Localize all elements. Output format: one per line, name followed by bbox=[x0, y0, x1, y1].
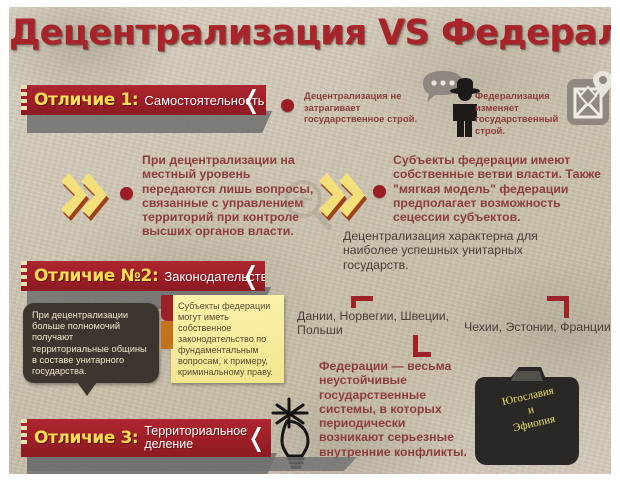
page-title: Децентрализация VS Федерализация bbox=[9, 13, 611, 53]
federal-top-text: Федерализация изменяет государственный с… bbox=[475, 91, 561, 137]
countries-unitary-text: Дании, Норвегии, Швеции, Польши bbox=[297, 309, 487, 338]
sticky-tab-orange bbox=[161, 321, 173, 349]
banner-body-2: Отличие №2: Законодательство ❬ bbox=[21, 261, 265, 291]
banner-ticks-icon bbox=[21, 261, 30, 291]
corner-bracket bbox=[413, 335, 435, 357]
section-number-3: Отличие 3: bbox=[34, 428, 138, 448]
sticky-tab-red bbox=[161, 295, 173, 321]
chevron-left-icon: ❬ bbox=[241, 88, 262, 112]
yellow-sticky-note: Субъекты федерации могут иметь собственн… bbox=[171, 295, 284, 383]
poster-canvas: Децентрализация VS Федерализация Отличие… bbox=[9, 7, 611, 474]
federation-unstable-text: Федерации — весьма неустойчивые государс… bbox=[319, 359, 469, 459]
folder-label-line2: и bbox=[527, 403, 535, 416]
decentral-top-text: Децентрализация не затрагивает государст… bbox=[304, 91, 419, 126]
bullet-dot-icon bbox=[120, 187, 133, 200]
infographic-poster: Децентрализация VS Федерализация Отличие… bbox=[0, 0, 620, 483]
chevron-left-icon: ❬ bbox=[240, 264, 261, 288]
map-marker-icon bbox=[565, 69, 611, 136]
banner-body-3: Отличие 3: Территориальное деление ❬ bbox=[21, 419, 271, 457]
title-band: Децентрализация VS Федерализация bbox=[9, 7, 611, 69]
section-label-3-line1: Территориальное bbox=[144, 424, 247, 438]
chevron-right-icon bbox=[315, 173, 367, 229]
chevron-right-icon bbox=[57, 173, 109, 229]
banner-ticks-icon bbox=[21, 419, 30, 457]
federal-body-text: Субъекты федерации имеют собственные вет… bbox=[393, 153, 611, 224]
section-label-3-line2: деление bbox=[144, 437, 193, 451]
countries-federal-text: Чехии, Эстонии, Франции bbox=[464, 320, 611, 334]
bullet-dot-icon bbox=[373, 185, 386, 198]
section-banner-1[interactable]: Отличие 1: Самостоятельность ❬ bbox=[21, 85, 266, 115]
bottom-shadow-strip bbox=[27, 457, 357, 471]
sticky-note-text: Субъекты федерации могут иметь собственн… bbox=[171, 295, 284, 383]
banner-ticks-icon bbox=[21, 85, 30, 115]
dark-speech-bubble: При децентрализации больше полномочий по… bbox=[23, 303, 159, 383]
corner-bracket bbox=[351, 288, 373, 308]
dark-bubble-text: При децентрализации больше полномочий по… bbox=[23, 303, 159, 383]
section-number-2: Отличие №2: bbox=[34, 266, 158, 286]
bubble-tail bbox=[77, 382, 97, 396]
corner-bracket bbox=[547, 296, 569, 318]
section-banner-2[interactable]: Отличие №2: Законодательство ❬ bbox=[21, 261, 265, 291]
banner-body-1: Отличие 1: Самостоятельность ❬ bbox=[21, 85, 266, 115]
folder-icon: Югославия и Эфиопия bbox=[471, 365, 593, 474]
decentral-typical-text: Децентрализация характерна для наиболее … bbox=[343, 229, 583, 272]
section-label-3: Территориальное деление bbox=[144, 425, 247, 452]
bullet-dot-icon bbox=[281, 99, 294, 112]
section-banner-3[interactable]: Отличие 3: Территориальное деление ❬ bbox=[21, 419, 271, 457]
section-number-1: Отличие 1: bbox=[34, 90, 138, 110]
chevron-left-icon: ❬ bbox=[246, 426, 267, 450]
